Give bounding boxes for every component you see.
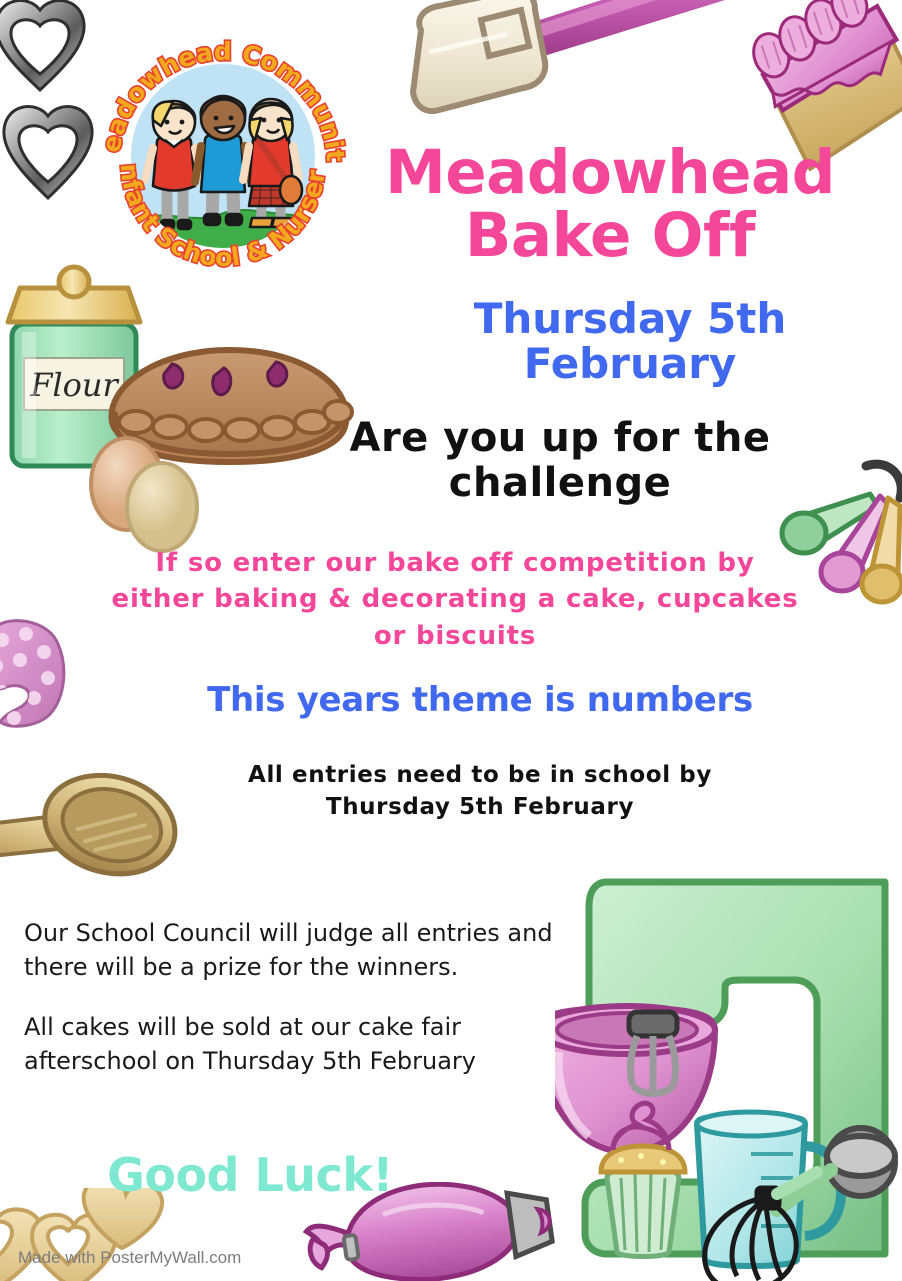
details-paragraph-2: All cakes will be sold at our cake fair …: [24, 1010, 554, 1078]
school-logo: Meadowhead Community Infant School & Nur…: [95, 14, 350, 286]
entry-instructions: If so enter our bake off competition by …: [60, 545, 850, 654]
spatula-icon: [395, 0, 725, 132]
mixing-bowl-icon: [555, 1006, 715, 1152]
logo-disc: [131, 64, 315, 248]
entry-line-3: or biscuits: [60, 618, 850, 654]
challenge-line-1: Are you up for the: [300, 416, 820, 461]
title-line-2: Bake Off: [330, 205, 890, 268]
theme-statement: This years theme is numbers: [100, 680, 860, 720]
deadline-line-2: Thursday 5th February: [150, 792, 810, 824]
measuring-jug-icon: [697, 1112, 841, 1266]
sieve-icon: [777, 1128, 895, 1210]
entry-line-2: either baking & decorating a cake, cupca…: [60, 581, 850, 617]
entry-line-1: If so enter our bake off competition by: [60, 545, 850, 581]
event-date: Thursday 5th February: [370, 296, 890, 387]
deadline-notice: All entries need to be in school by Thur…: [150, 760, 810, 823]
poster-title: Meadowhead Bake Off: [330, 142, 890, 268]
flour-jar-icon: Flour: [8, 267, 140, 466]
title-line-1: Meadowhead: [330, 142, 890, 205]
date-line-2: February: [370, 341, 890, 386]
stand-mixer-icon: [585, 882, 885, 1254]
eggs-icon: [91, 438, 197, 551]
challenge-heading: Are you up for the challenge: [300, 416, 820, 506]
deadline-line-1: All entries need to be in school by: [150, 760, 810, 792]
good-luck-text: Good Luck!: [60, 1148, 440, 1202]
logo-top-arc-text: Meadowhead Community: [95, 14, 350, 163]
cupcake-icon: [601, 1103, 685, 1256]
stand-mixer-scene: [555, 862, 902, 1281]
beater-icon: [629, 1012, 677, 1094]
flour-pie-eggs-group: Flour: [0, 262, 374, 557]
challenge-line-2: challenge: [300, 461, 820, 506]
details-text: Our School Council will judge all entrie…: [24, 916, 554, 1078]
heart-cookie-cutters-icon: [0, 0, 118, 229]
date-line-1: Thursday 5th: [370, 296, 890, 341]
postermywall-watermark: Made with PosterMyWall.com: [18, 1248, 241, 1268]
logo-bottom-arc-text: Infant School & Nursery: [95, 14, 331, 272]
details-paragraph-1: Our School Council will judge all entrie…: [24, 916, 554, 984]
poster-canvas: Meadowhead Community Infant School & Nur…: [0, 0, 902, 1281]
flour-jar-label: Flour: [29, 366, 119, 404]
whisk-icon: [705, 1172, 817, 1281]
